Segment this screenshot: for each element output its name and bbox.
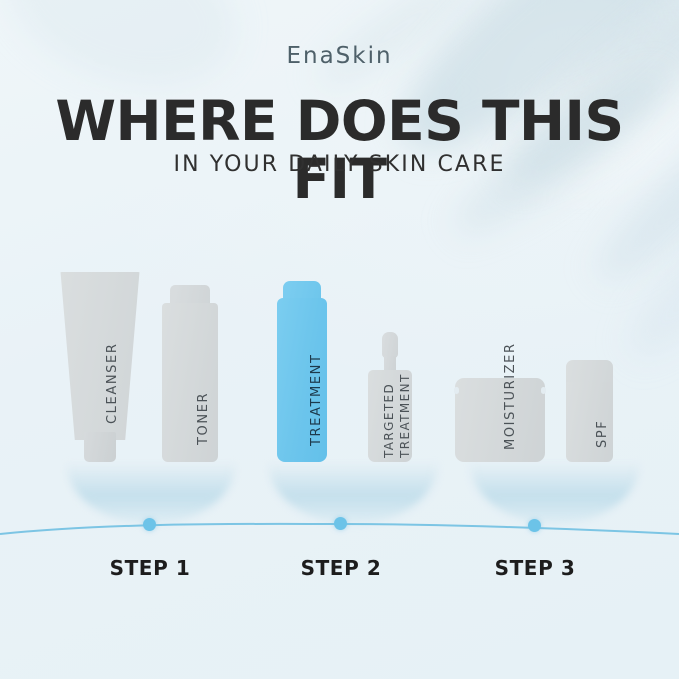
moisturizer-notch-left <box>454 387 459 394</box>
cleanser-cap <box>84 432 116 462</box>
product-cleanser: CLEANSER <box>58 272 142 462</box>
step-label-3: STEP 3 <box>455 556 615 580</box>
cleanser-tube-body <box>58 272 142 440</box>
product-moisturizer: MOISTURIZER <box>455 378 545 462</box>
spf-label: SPF <box>595 420 610 448</box>
product-targeted-treatment: TARGETED TREATMENT <box>368 332 412 462</box>
targeted-treatment-label-line2: TREATMENT <box>398 373 413 458</box>
routine-timeline <box>0 500 679 560</box>
timeline-dot-step-2[interactable] <box>334 517 347 530</box>
moisturizer-jar-body <box>455 378 545 462</box>
step-label-2: STEP 2 <box>261 556 421 580</box>
timeline-dot-step-3[interactable] <box>528 519 541 532</box>
product-routine-infographic: EnaSkin WHERE DOES THIS FIT IN YOUR DAIL… <box>0 0 679 679</box>
timeline-line <box>0 500 679 560</box>
product-toner: TONER <box>162 285 218 462</box>
product-lineup: CLEANSER TONER TREATMENT TARGETED TREATM… <box>0 0 679 520</box>
cleanser-label: CLEANSER <box>105 343 120 424</box>
targeted-treatment-label-line1: TARGETED <box>382 383 397 458</box>
treatment-label: TREATMENT <box>309 353 324 446</box>
product-spf: SPF <box>566 360 613 462</box>
step-label-1: STEP 1 <box>70 556 230 580</box>
dropper-bulb <box>382 332 398 358</box>
moisturizer-label: MOISTURIZER <box>503 342 518 450</box>
timeline-dot-step-1[interactable] <box>143 518 156 531</box>
toner-label: TONER <box>196 392 211 445</box>
product-treatment: TREATMENT <box>277 281 327 462</box>
step-labels: STEP 1 STEP 2 STEP 3 <box>0 556 679 586</box>
moisturizer-notch-right <box>541 387 546 394</box>
